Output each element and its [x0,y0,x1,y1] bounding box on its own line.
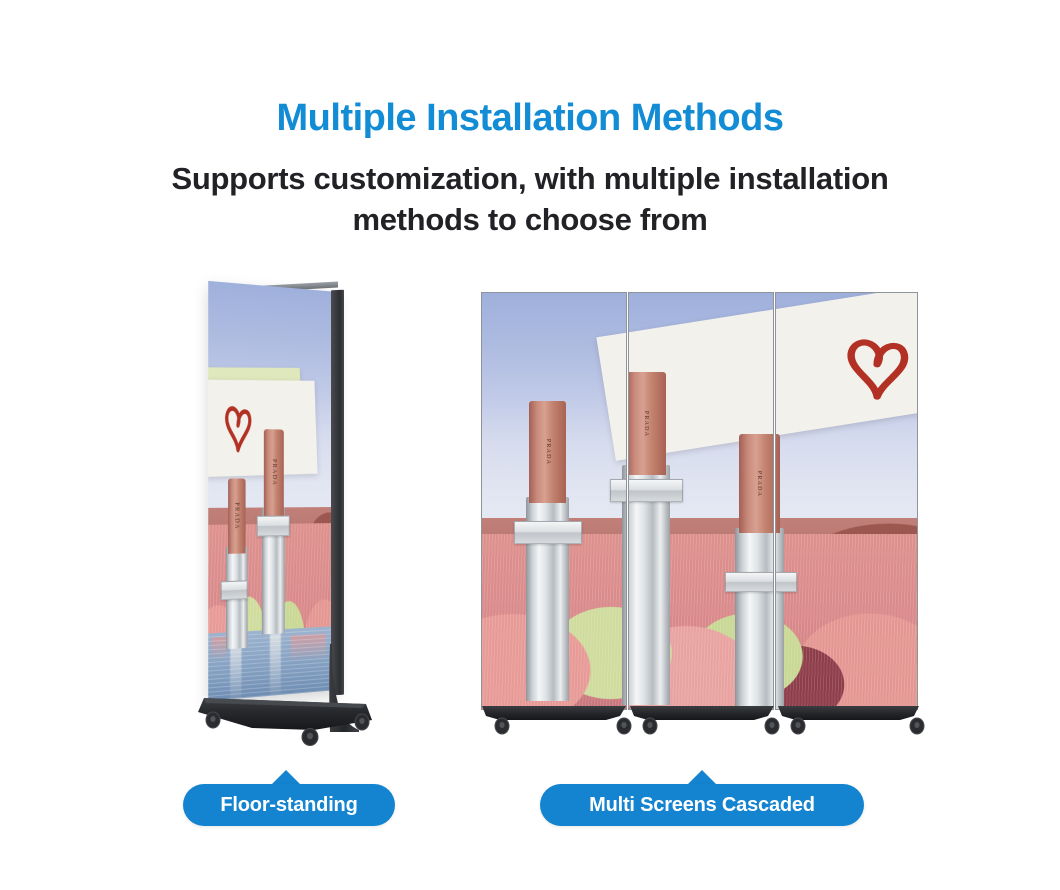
display-panel: PRADA PRADA PRADA [628,292,774,710]
lipstick-bullet: PRADA [264,429,284,515]
multi-screens-pointer-icon [688,770,716,784]
lipstick-band [257,515,290,536]
display-side-bezel [331,290,344,696]
base-platform [778,706,924,734]
multi-screens-cascaded-unit: PRADA PRADA PRADA [470,286,930,742]
screen-artwork: PRADA PRADA [208,281,338,701]
base-platform [630,706,779,734]
base-platform [482,706,631,734]
display-panel: PRADA PRADA PRADA [775,292,918,710]
display-base-platforms [478,706,921,742]
reflection-streak [230,642,242,699]
page-subtitle: Supports customization, with multiple in… [130,158,930,240]
lipstick-bullet: PRADA [228,478,246,553]
artwork-lipstick: PRADA [262,429,285,635]
lipstick-band [221,580,248,600]
lipstick-brand-text: PRADA [234,502,240,530]
display-panel: PRADA PRADA PRADA [481,292,627,710]
artwork-lipstick: PRADA [226,478,247,649]
marketing-page: Multiple Installation Methods Supports c… [0,0,1060,890]
heart-icon [222,399,254,454]
display-base-platform [194,692,378,740]
lipstick-brand-text: PRADA [271,459,277,486]
floor-standing-label[interactable]: Floor-standing [183,784,395,826]
floor-standing-display-unit: PRADA PRADA [188,282,388,742]
display-screen-single: PRADA PRADA [208,281,338,701]
multi-screens-cascaded-label[interactable]: Multi Screens Cascaded [540,784,864,826]
display-screen-array: PRADA PRADA PRADA [481,292,918,710]
reflection-streak [270,633,282,696]
reflection-streak [211,637,227,661]
page-title: Multiple Installation Methods [0,96,1060,140]
floor-standing-pointer-icon [272,770,300,784]
reflection-streak [290,633,325,661]
